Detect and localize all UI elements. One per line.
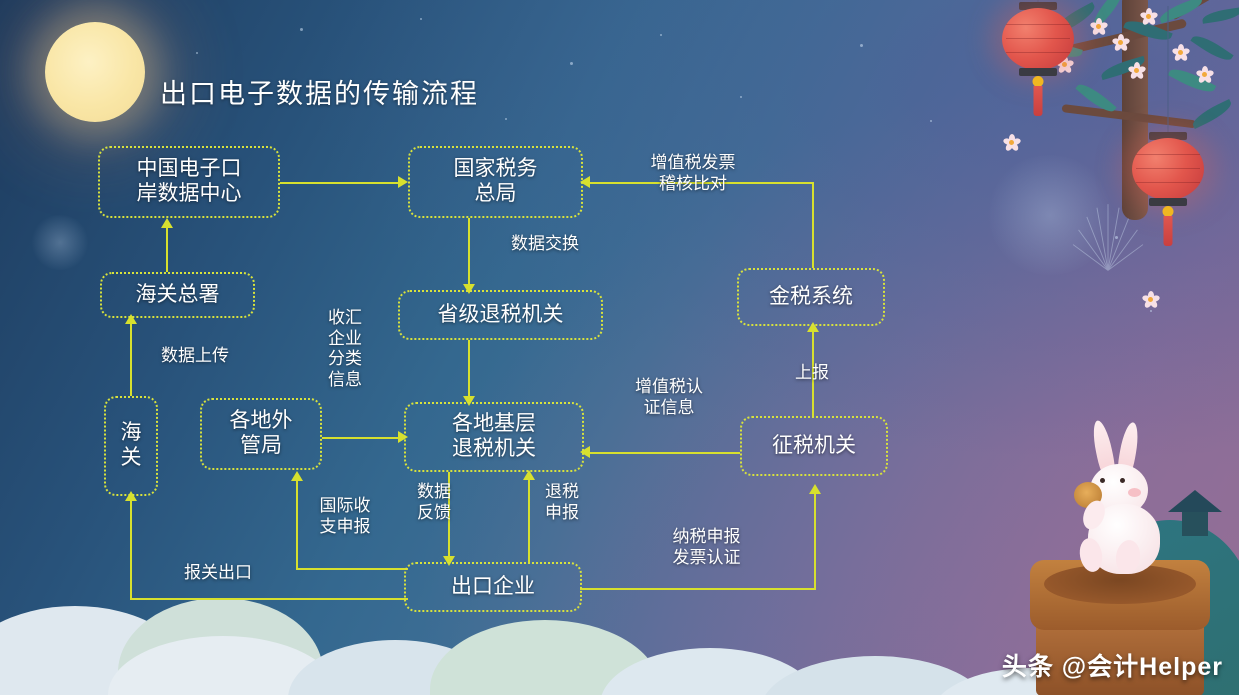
- edge-taxauth-to-localrefund: [584, 452, 740, 454]
- edge-label-tax-declaration-invoice-auth: 纳税申报 发票认证: [644, 526, 769, 569]
- edge-exportco-to-customs-v: [130, 497, 132, 599]
- edge-exportco-to-taxauth-h: [580, 588, 816, 590]
- blossom-icon: [1112, 34, 1129, 51]
- star-icon: [860, 44, 863, 47]
- node-local-refund-authority[interactable]: 各地基层 退税机关: [404, 402, 584, 472]
- arrowhead: [398, 176, 408, 188]
- moon-icon: [45, 22, 145, 122]
- node-tax-collection-authority[interactable]: 征税机关: [740, 416, 888, 476]
- star-icon: [420, 18, 422, 20]
- star-icon: [505, 118, 507, 120]
- blossom-icon: [1172, 44, 1189, 61]
- star-icon: [660, 34, 662, 36]
- star-icon: [570, 62, 573, 65]
- edge-label-vat-invoice-audit: 增值税发票 稽核比对: [628, 152, 758, 195]
- star-icon: [740, 96, 742, 98]
- lantern-icon: [1000, 0, 1076, 134]
- edge-customsgad-to-portcenter: [166, 222, 168, 272]
- edge-statetax-to-provincial: [468, 218, 470, 290]
- node-customs[interactable]: 海 关: [104, 396, 158, 496]
- edge-exportco-to-taxauth-v: [814, 490, 816, 590]
- blossom-icon: [1142, 291, 1159, 308]
- node-customs-general-admin[interactable]: 海关总署: [100, 272, 255, 318]
- leaf-icon: [1190, 99, 1235, 129]
- edge-label-data-upload: 数据上传: [140, 345, 250, 366]
- node-local-forex-bureau[interactable]: 各地外 管局: [200, 398, 322, 470]
- edge-portcenter-to-statetax: [280, 182, 400, 184]
- star-icon: [300, 28, 303, 31]
- edge-label-customs-export-declaration: 报关出口: [158, 562, 278, 583]
- edge-label-intl-payment-declaration: 国际收 支申报: [308, 495, 382, 538]
- arrowhead: [291, 471, 303, 481]
- dot-cloud: [30, 215, 90, 270]
- blossom-icon: [1090, 18, 1107, 35]
- star-icon: [930, 120, 932, 122]
- node-provincial-refund-authority[interactable]: 省级退税机关: [398, 290, 603, 340]
- edge-label-forex-classification: 收汇 企业 分类 信息: [322, 308, 368, 391]
- blossom-icon: [1128, 62, 1145, 79]
- edge-exportco-to-forex-h: [296, 568, 408, 570]
- star-icon: [1150, 310, 1152, 312]
- slide-canvas: 出口电子数据的传输流程 中国电子口 岸数据中心 国家税务 总局 海关总署 省级退…: [0, 0, 1239, 695]
- node-state-tax-admin[interactable]: 国家税务 总局: [408, 146, 583, 218]
- edge-customs-to-customsgad: [130, 318, 132, 396]
- edge-exportco-to-customs-h: [130, 598, 408, 600]
- node-port-data-center[interactable]: 中国电子口 岸数据中心: [98, 146, 280, 218]
- node-export-company[interactable]: 出口企业: [404, 562, 582, 612]
- watermark: 头条 @会计Helper: [1002, 647, 1223, 683]
- edge-provincial-to-localrefund: [468, 340, 470, 402]
- edge-label-refund-declaration: 退税 申报: [534, 481, 590, 524]
- arrowhead: [809, 484, 821, 494]
- page-title: 出口电子数据的传输流程: [160, 72, 479, 111]
- lantern-icon: [1130, 126, 1206, 276]
- blossom-icon: [1196, 66, 1213, 83]
- leaf-icon: [1190, 31, 1233, 66]
- edge-label-vat-auth-info: 增值税认 证信息: [604, 376, 734, 419]
- node-golden-tax-system[interactable]: 金税系统: [737, 268, 885, 326]
- edge-label-report-up: 上报: [782, 362, 842, 383]
- arrowhead: [161, 218, 173, 228]
- star-icon: [196, 52, 198, 54]
- edge-exportco-to-localrefund: [528, 476, 530, 564]
- blossom-icon: [1140, 8, 1157, 25]
- edge-label-data-feedback: 数据 反馈: [406, 481, 462, 524]
- leaf-icon: [1201, 7, 1239, 23]
- edge-label-data-exchange: 数据交换: [485, 233, 605, 254]
- edge-goldentax-to-statetax-v: [812, 182, 814, 268]
- rabbit-icon: [1068, 420, 1188, 580]
- edge-exportco-to-forex-v: [296, 477, 298, 569]
- blossom-icon: [1003, 134, 1020, 151]
- edge-forex-to-localrefund: [322, 437, 404, 439]
